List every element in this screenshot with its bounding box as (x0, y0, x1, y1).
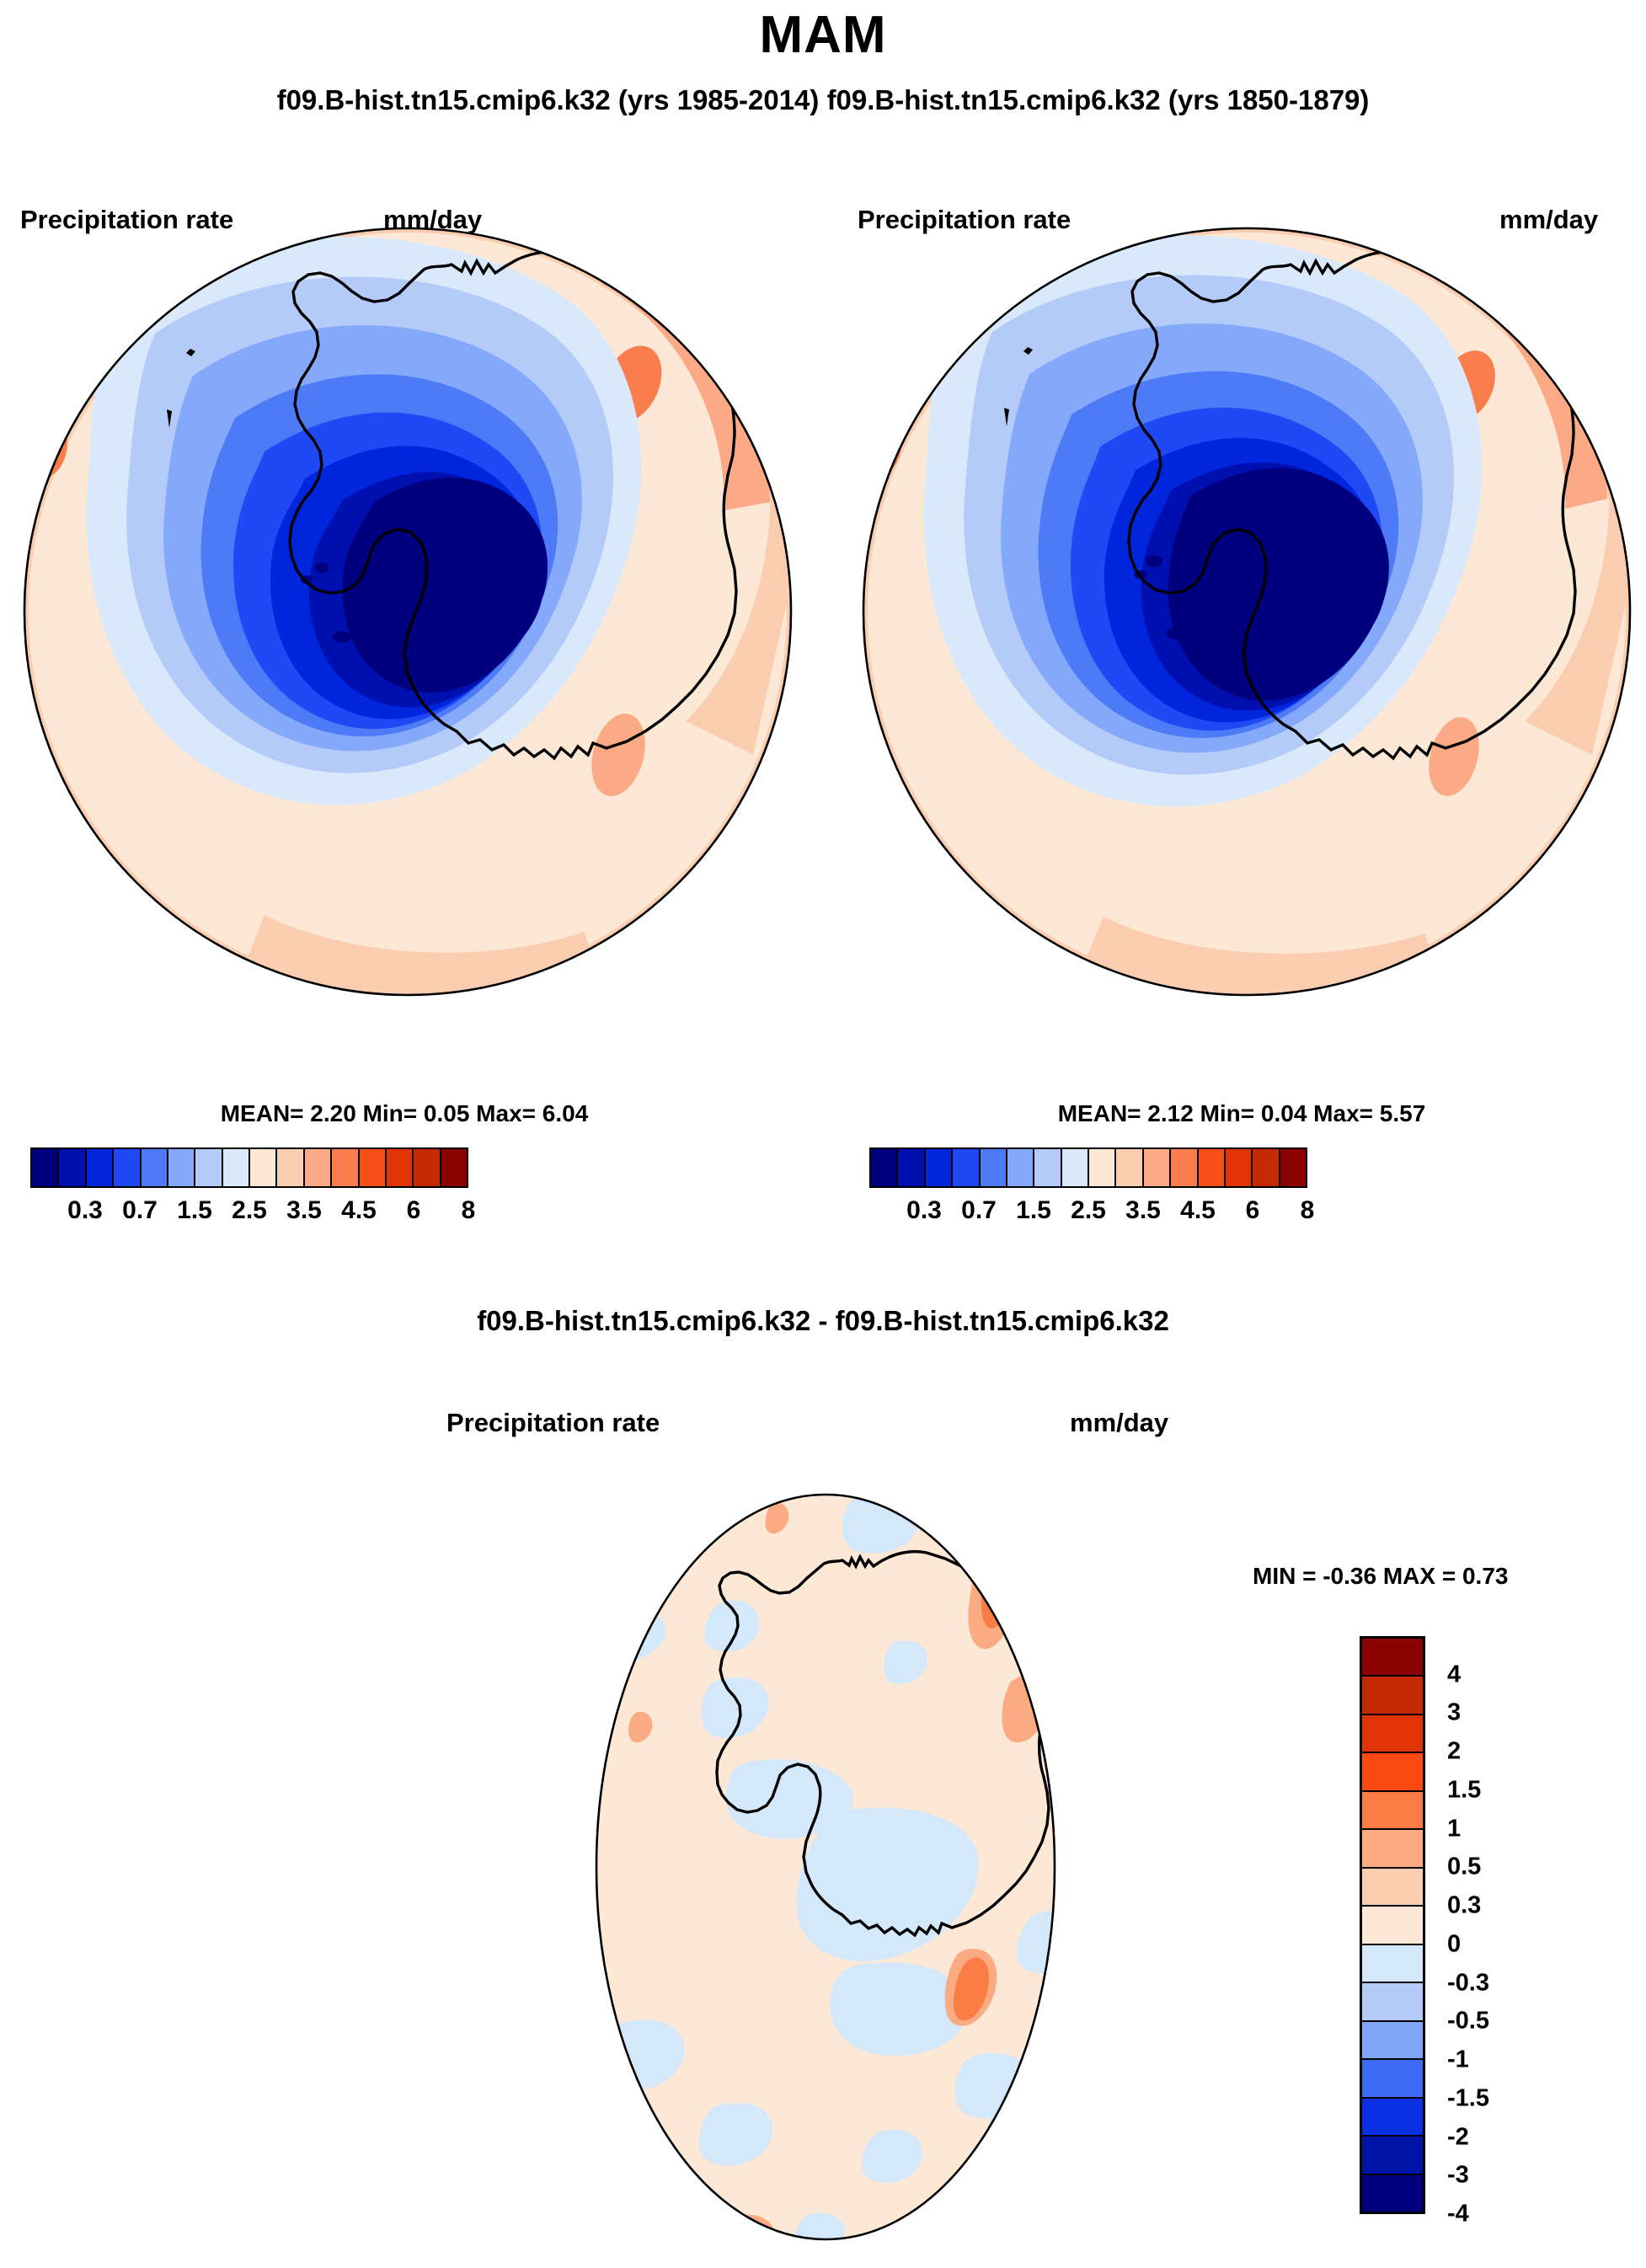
colorbar-cell (1144, 1149, 1171, 1186)
colorbar-cell (1362, 2137, 1423, 2174)
colorbar-tick-label: 0.7 (961, 1196, 997, 1225)
colorbar-cell (1226, 1149, 1253, 1186)
colorbar-cell (277, 1149, 304, 1186)
colorbar-cell (1362, 1639, 1423, 1677)
right-panel-stats: MEAN= 2.12 Min= 0.04 Max= 5.57 (837, 1100, 1646, 1127)
difference-minmax-annotation: MIN = -0.36 MAX = 0.73 (1253, 1563, 1508, 1590)
colorbar-cell (1007, 1149, 1034, 1186)
colorbar-cell (142, 1149, 168, 1186)
right-panel-map (851, 165, 1643, 1058)
colorbar-cell (441, 1149, 467, 1186)
colorbar-cell (1362, 2060, 1423, 2098)
colorbar-cell (926, 1149, 953, 1186)
colorbar-tick-label: -2 (1447, 2123, 1469, 2151)
figure-canvas: MAM f09.B-hist.tn15.cmip6.k32 (yrs 1985-… (0, 0, 1646, 2268)
colorbar-cell (1199, 1149, 1226, 1186)
colorbar-tick-label: -0.5 (1447, 2008, 1489, 2035)
colorbar-cell (1116, 1149, 1143, 1186)
colorbar-cell (1362, 1830, 1423, 1868)
colorbar-tick-label: 1.5 (177, 1196, 212, 1225)
difference-panel-units-label: mm/day (1070, 1408, 1168, 1438)
colorbar-cell (1362, 1983, 1423, 2021)
colorbar-cell (1362, 2175, 1423, 2212)
colorbar-tick-label: -3 (1447, 2162, 1469, 2190)
colorbar-cell (1362, 2022, 1423, 2060)
colorbar-tick-label: -1.5 (1447, 2084, 1489, 2112)
colorbar-cell (250, 1149, 277, 1186)
colorbar-tick-label: 0 (1447, 1930, 1461, 1958)
colorbar-tick-label: -0.3 (1447, 1969, 1489, 1997)
colorbar-tick-label: 0.3 (1447, 1892, 1481, 1920)
colorbar-cell (195, 1149, 222, 1186)
colorbar-cell (1362, 1869, 1423, 1907)
difference-colorbar-labels: 4321.510.50.30-0.3-0.5-1-1.5-2-3-4 (1447, 1636, 1599, 2214)
left-panel-stats: MEAN= 2.20 Min= 0.05 Max= 6.04 (0, 1100, 809, 1127)
colorbar-cell (59, 1149, 86, 1186)
colorbar-tick-label: 2 (1447, 1738, 1461, 1766)
colorbar-cell (87, 1149, 114, 1186)
colorbar-cell (1362, 1945, 1423, 1983)
left-panel-colorbar (30, 1147, 468, 1188)
colorbar-cell (387, 1149, 414, 1186)
colorbar-cell (1362, 1792, 1423, 1830)
colorbar-cell (1171, 1149, 1198, 1186)
colorbar-tick-label: 6 (407, 1196, 421, 1225)
case-subtitle: f09.B-hist.tn15.cmip6.k32 (yrs 1985-2014… (0, 84, 1646, 116)
colorbar-cell (1362, 1715, 1423, 1753)
colorbar-cell (871, 1149, 898, 1186)
difference-panel-title: f09.B-hist.tn15.cmip6.k32 - f09.B-hist.t… (0, 1305, 1646, 1337)
colorbar-cell (332, 1149, 359, 1186)
colorbar-cell (981, 1149, 1007, 1186)
colorbar-cell (1362, 1907, 1423, 1944)
colorbar-cell (1253, 1149, 1280, 1186)
right-panel-colorbar-labels: 0.30.71.52.53.54.568 (869, 1196, 1307, 1233)
colorbar-tick-label: 8 (1301, 1196, 1315, 1225)
colorbar-cell (1034, 1149, 1061, 1186)
colorbar-tick-label: 0.3 (906, 1196, 942, 1225)
colorbar-tick-label: 1.5 (1447, 1776, 1481, 1804)
colorbar-tick-label: 0.5 (1447, 1853, 1481, 1881)
colorbar-tick-label: 8 (462, 1196, 476, 1225)
colorbar-tick-label: 2.5 (232, 1196, 267, 1225)
colorbar-cell (414, 1149, 441, 1186)
difference-panel-map (396, 1466, 1255, 2268)
colorbar-tick-label: 3.5 (1125, 1196, 1161, 1225)
colorbar-tick-label: 1.5 (1016, 1196, 1051, 1225)
colorbar-tick-label: 1 (1447, 1815, 1461, 1843)
colorbar-cell (1280, 1149, 1306, 1186)
difference-colorbar (1360, 1636, 1425, 2214)
colorbar-tick-label: -1 (1447, 2046, 1469, 2074)
colorbar-cell (1362, 2099, 1423, 2137)
colorbar-tick-label: 0.3 (67, 1196, 103, 1225)
difference-panel-variable-label: Precipitation rate (446, 1408, 660, 1438)
right-panel-colorbar (869, 1147, 1307, 1188)
colorbar-cell (360, 1149, 387, 1186)
colorbar-cell (223, 1149, 250, 1186)
colorbar-cell (898, 1149, 925, 1186)
colorbar-cell (1089, 1149, 1116, 1186)
page-title: MAM (0, 5, 1646, 65)
colorbar-cell (114, 1149, 141, 1186)
colorbar-cell (305, 1149, 332, 1186)
left-panel-colorbar-labels: 0.30.71.52.53.54.568 (30, 1196, 468, 1233)
colorbar-tick-label: 3.5 (286, 1196, 322, 1225)
colorbar-cell (1362, 1677, 1423, 1714)
colorbar-tick-label: 0.7 (122, 1196, 158, 1225)
colorbar-cell (1362, 1753, 1423, 1791)
colorbar-tick-label: 3 (1447, 1699, 1461, 1727)
colorbar-tick-label: 4.5 (341, 1196, 377, 1225)
colorbar-cell (953, 1149, 980, 1186)
colorbar-tick-label: -4 (1447, 2201, 1469, 2228)
colorbar-cell (168, 1149, 195, 1186)
colorbar-cell (1062, 1149, 1089, 1186)
left-panel-map (12, 165, 804, 1058)
colorbar-tick-label: 2.5 (1071, 1196, 1106, 1225)
colorbar-tick-label: 4.5 (1180, 1196, 1216, 1225)
colorbar-tick-label: 6 (1246, 1196, 1260, 1225)
colorbar-cell (32, 1149, 59, 1186)
colorbar-tick-label: 4 (1447, 1661, 1461, 1688)
